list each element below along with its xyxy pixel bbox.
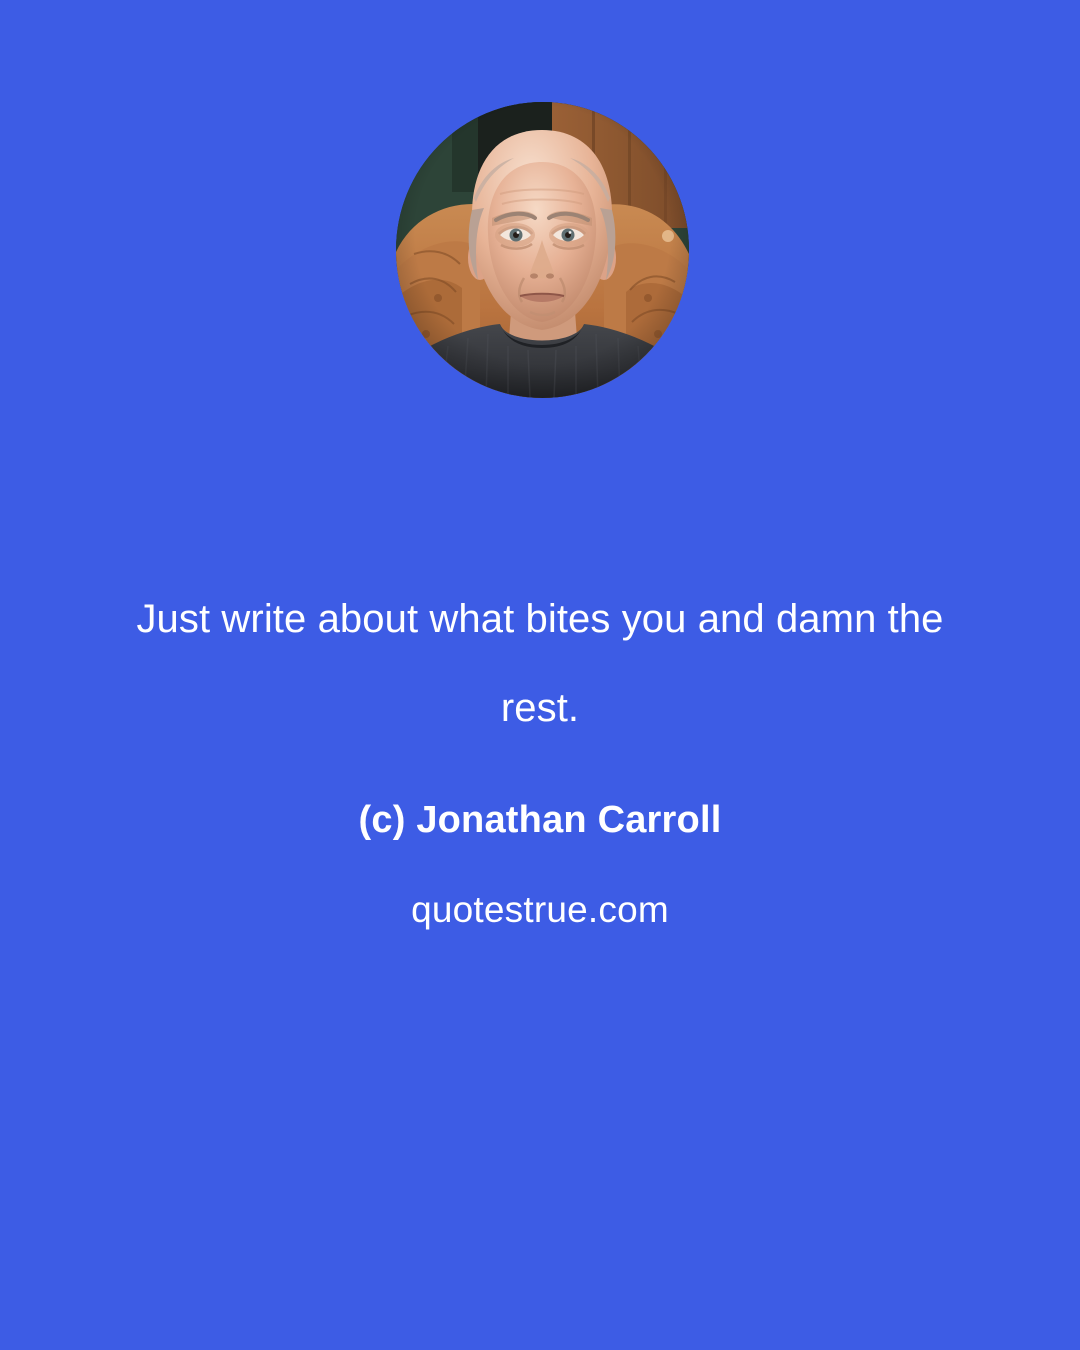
quote-card: Just write about what bites you and damn… — [0, 0, 1080, 1350]
portrait-image — [396, 102, 689, 398]
avatar — [396, 102, 689, 398]
text-block: Just write about what bites you and damn… — [0, 575, 1080, 932]
quote-text: Just write about what bites you and damn… — [0, 575, 1080, 753]
site-watermark: quotestrue.com — [0, 888, 1080, 932]
quote-attribution: (c) Jonathan Carroll — [0, 798, 1080, 842]
